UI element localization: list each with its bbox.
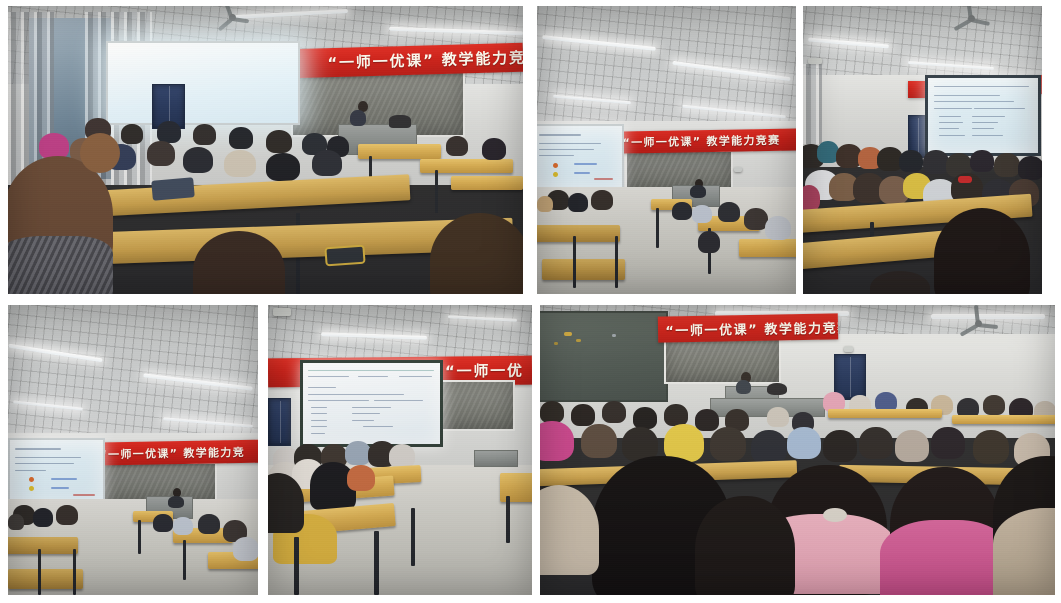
seated-judge xyxy=(767,383,787,395)
event-banner: “一师一优课” 教学能力竞赛 xyxy=(658,314,839,343)
projection-screen xyxy=(8,438,105,506)
curtain-left xyxy=(803,64,822,145)
wall-speaker xyxy=(844,346,853,352)
judge-head xyxy=(173,488,181,497)
classroom-door xyxy=(268,398,291,446)
ceiling-fan-icon xyxy=(951,9,991,27)
photo-panel-classroom-front-left-slide-view[interactable]: “一师一优课” 教学能力竞赛 xyxy=(537,6,796,294)
banner-text: “一师一优课” 教学能力竞赛 xyxy=(658,317,839,339)
photo-panel-classroom-wide-left-view[interactable]: “一师一优课” 教学能力竞 xyxy=(8,305,258,595)
bag-on-desk xyxy=(151,177,195,201)
projection-screen xyxy=(106,41,301,126)
photo-panel-students-front-rows-screen-closeup[interactable]: 贵 “一师一优 xyxy=(268,305,532,595)
projector xyxy=(273,308,291,316)
student-magenta-coat xyxy=(540,421,574,461)
photo-collage: “一师一优课” 教学能力竞赛 贵 xyxy=(0,0,1061,603)
photo-panel-lecture-hall-wide-rear-view[interactable]: “一师一优课” 教学能力竞赛 贵 xyxy=(8,6,523,294)
projection-screen xyxy=(300,360,443,447)
ceiling-fan-icon xyxy=(214,9,250,25)
foreground-person xyxy=(934,208,1030,294)
presenter-body xyxy=(736,380,751,394)
presenter-body xyxy=(350,110,366,126)
photo-panel-students-side-view-with-screen[interactable] xyxy=(803,6,1042,294)
banner-text: “一师一优课” 教学能力竞 xyxy=(95,444,244,463)
phone-on-desk xyxy=(327,247,364,264)
foreground-person-shirt xyxy=(8,236,113,294)
foreground-person xyxy=(695,496,795,595)
magenta-coat-body xyxy=(880,520,1010,595)
ceiling-fan-icon xyxy=(957,314,999,332)
projection-screen xyxy=(540,311,668,402)
projection-screen xyxy=(925,75,1041,156)
event-banner: “一师一优课” 教学能力竞赛 xyxy=(617,128,796,153)
banner-text: “一师一优课” 教学能力竞赛 xyxy=(617,131,781,150)
seated-judge xyxy=(690,185,706,198)
podium xyxy=(474,450,518,467)
seated-judge xyxy=(389,115,411,128)
foreground-person xyxy=(540,485,599,575)
projector xyxy=(734,167,742,172)
projection-screen xyxy=(537,124,624,191)
event-banner: “一师一优课” 教学能力竞 xyxy=(95,440,258,466)
foreground-person xyxy=(80,133,120,173)
photo-panel-packed-lecture-hall-panorama[interactable]: “一师一优课” 教学能力竞赛 xyxy=(540,305,1055,595)
seated-judge xyxy=(168,496,184,508)
